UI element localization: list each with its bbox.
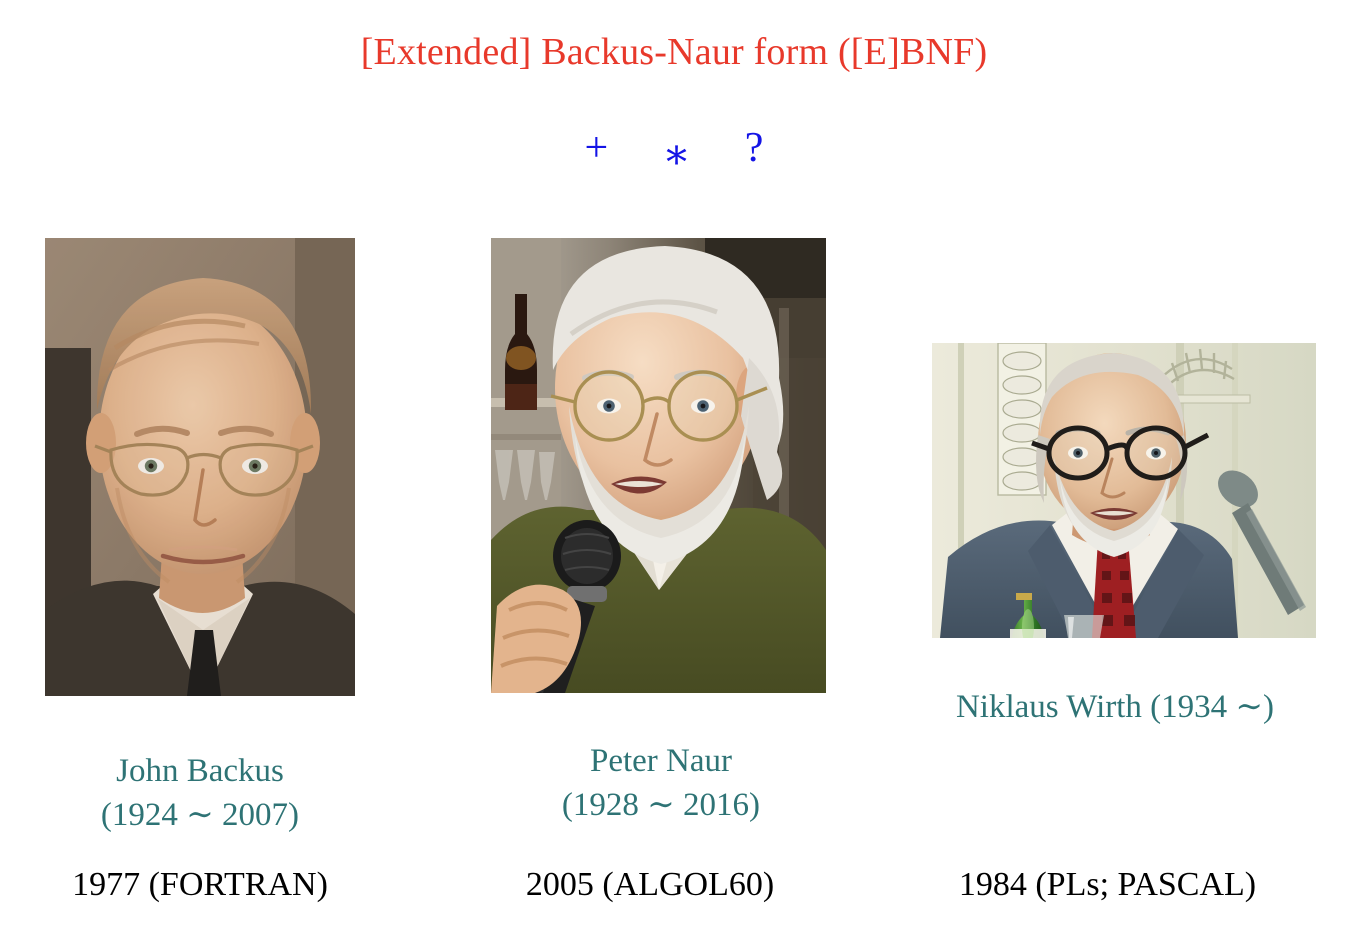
portrait-john-backus-image <box>45 238 355 696</box>
award-year-wirth: 1984 (PLs; PASCAL) <box>880 866 1335 904</box>
portrait-peter-naur-image <box>491 238 826 693</box>
caption-lifespan-backus: (1924 ∼ 2007) <box>30 794 370 838</box>
page-title: [Extended] Backus-Naur form ([E]BNF) <box>0 30 1348 74</box>
caption-lifespan-naur: (1928 ∼ 2016) <box>466 784 856 828</box>
portrait-john-backus <box>45 238 355 696</box>
award-year-naur: 2005 (ALGOL60) <box>450 866 850 904</box>
operator-question-symbol: ? <box>745 124 764 172</box>
ebnf-operator-row: + ∗ ? <box>0 120 1348 173</box>
caption-john-backus: John Backus (1924 ∼ 2007) <box>30 750 370 837</box>
portrait-peter-naur <box>491 238 826 693</box>
operator-plus-symbol: + <box>585 124 609 172</box>
caption-niklaus-wirth: Niklaus Wirth (1934 ∼) <box>880 686 1348 730</box>
award-year-backus: 1977 (FORTRAN) <box>10 866 390 904</box>
caption-peter-naur: Peter Naur (1928 ∼ 2016) <box>466 740 856 827</box>
slide-canvas: [Extended] Backus-Naur form ([E]BNF) + ∗… <box>0 0 1348 930</box>
portrait-niklaus-wirth-image <box>932 343 1316 638</box>
operator-asterisk-symbol: ∗ <box>662 129 691 179</box>
caption-name-backus: John Backus <box>30 750 370 794</box>
caption-name-naur: Peter Naur <box>466 740 856 784</box>
portrait-niklaus-wirth <box>932 343 1316 638</box>
caption-name-wirth: Niklaus Wirth (1934 ∼) <box>880 686 1348 730</box>
